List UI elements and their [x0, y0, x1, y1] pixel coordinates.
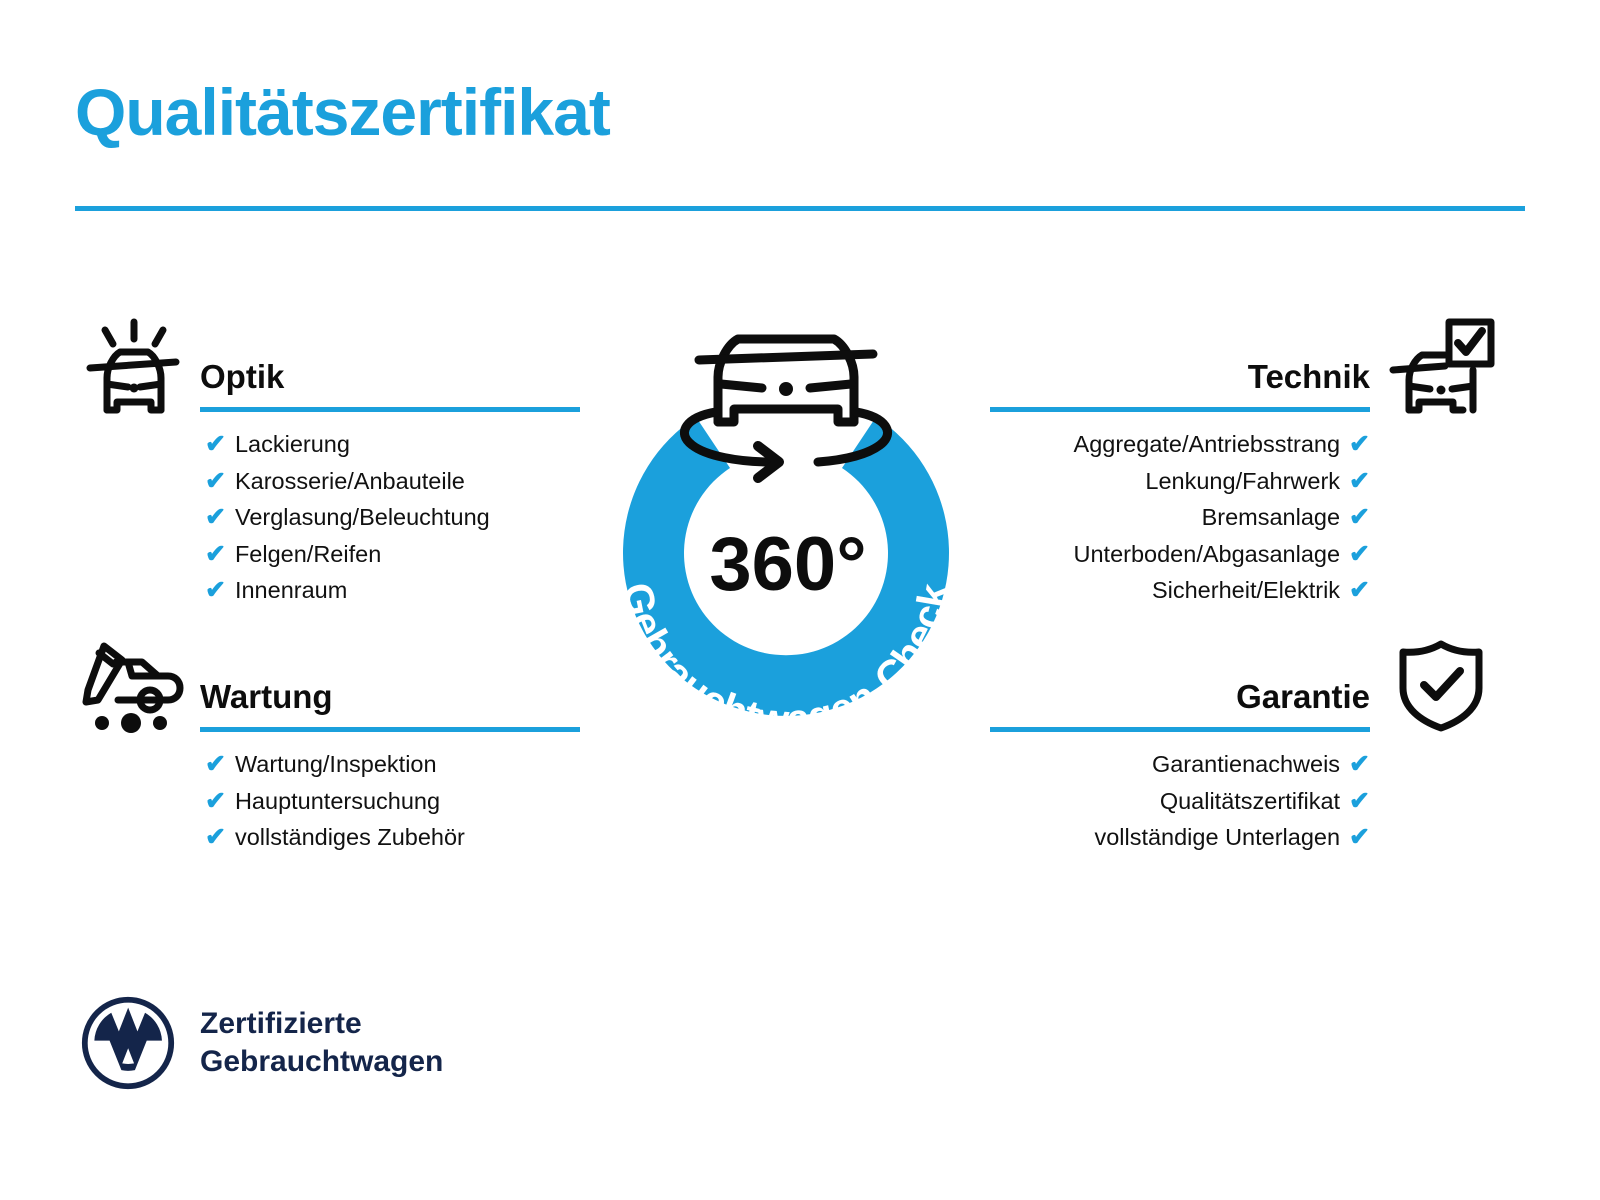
section-garantie-header: Garantie [995, 638, 1500, 746]
header-divider [75, 206, 1525, 211]
check-icon: ✔ [205, 540, 226, 568]
car-shine-icon [75, 318, 193, 418]
list-item-label: Lenkung/Fahrwerk [1145, 468, 1340, 494]
volkswagen-logo [80, 995, 176, 1091]
section-optik-divider [200, 407, 580, 412]
list-item-label: Innenraum [235, 577, 347, 603]
car-pencil-service-icon [75, 638, 193, 738]
list-item-label: Unterboden/Abgasanlage [1074, 541, 1341, 567]
section-optik-title: Optik [200, 358, 284, 396]
car-checkbox-icon [1382, 318, 1500, 418]
list-item: ✔Wartung/Inspektion [205, 746, 580, 783]
section-technik: Technik Aggregate/Antriebsstrang✔ Lenkun… [995, 318, 1500, 609]
section-wartung: Wartung ✔Wartung/Inspektion ✔Hauptunters… [75, 638, 580, 856]
section-garantie-list: Garantienachweis✔ Qualitätszertifikat✔ v… [995, 746, 1370, 856]
list-item: ✔Lackierung [205, 426, 580, 463]
list-item-label: Karosserie/Anbauteile [235, 468, 465, 494]
section-wartung-list: ✔Wartung/Inspektion ✔Hauptuntersuchung ✔… [205, 746, 580, 856]
list-item: ✔vollständiges Zubehör [205, 819, 580, 856]
badge-center-value: 360° [709, 522, 866, 607]
list-item: Bremsanlage✔ [995, 499, 1370, 536]
list-item-label: Wartung/Inspektion [235, 751, 437, 777]
check-icon: ✔ [1349, 430, 1370, 458]
section-optik: Optik ✔Lackierung ✔Karosserie/Anbauteile… [75, 318, 580, 609]
section-garantie-divider [990, 727, 1370, 732]
section-technik-header: Technik [995, 318, 1500, 426]
list-item: Aggregate/Antriebsstrang✔ [995, 426, 1370, 463]
section-wartung-title: Wartung [200, 678, 333, 716]
footer-brand-lockup: Zertifizierte Gebrauchtwagen [80, 995, 443, 1091]
section-technik-list: Aggregate/Antriebsstrang✔ Lenkung/Fahrwe… [995, 426, 1370, 609]
list-item: Sicherheit/Elektrik✔ [995, 572, 1370, 609]
check-icon: ✔ [205, 503, 226, 531]
shield-check-icon [1382, 638, 1500, 738]
car-rotate-icon [684, 339, 887, 478]
check-icon: ✔ [205, 750, 226, 778]
check-icon: ✔ [205, 467, 226, 495]
check-icon: ✔ [205, 576, 226, 604]
list-item: ✔Karosserie/Anbauteile [205, 463, 580, 500]
check-icon: ✔ [1349, 467, 1370, 495]
list-item: ✔Verglasung/Beleuchtung [205, 499, 580, 536]
list-item: ✔Innenraum [205, 572, 580, 609]
list-item: Unterboden/Abgasanlage✔ [995, 536, 1370, 573]
list-item-label: Aggregate/Antriebsstrang [1074, 431, 1341, 457]
list-item-label: Bremsanlage [1202, 504, 1340, 530]
list-item: ✔Felgen/Reifen [205, 536, 580, 573]
list-item-label: Verglasung/Beleuchtung [235, 504, 490, 530]
check-icon: ✔ [1349, 576, 1370, 604]
footer-brand-text: Zertifizierte Gebrauchtwagen [200, 1005, 443, 1082]
list-item-label: Hauptuntersuchung [235, 788, 440, 814]
list-item: Garantienachweis✔ [995, 746, 1370, 783]
check-icon: ✔ [1349, 750, 1370, 778]
list-item-label: vollständiges Zubehör [235, 824, 465, 850]
certificate-page: Qualitätszertifikat Optik [0, 0, 1600, 1200]
check-icon: ✔ [1349, 823, 1370, 851]
footer-brand-line1: Zertifizierte [200, 1005, 443, 1043]
list-item-label: Lackierung [235, 431, 350, 457]
section-wartung-divider [200, 727, 580, 732]
list-item-label: Sicherheit/Elektrik [1152, 577, 1340, 603]
check-icon: ✔ [205, 430, 226, 458]
badge-360-gebrauchtwagen-check: Gebrauchtwagen-Check 360° [566, 305, 1006, 760]
list-item-label: Qualitätszertifikat [1160, 788, 1340, 814]
section-garantie: Garantie Garantienachweis✔ Qualitätszert… [995, 638, 1500, 856]
section-optik-header: Optik [75, 318, 580, 426]
section-technik-title: Technik [1248, 358, 1370, 396]
section-optik-list: ✔Lackierung ✔Karosserie/Anbauteile ✔Verg… [205, 426, 580, 609]
list-item: Qualitätszertifikat✔ [995, 783, 1370, 820]
page-title: Qualitätszertifikat [75, 78, 610, 147]
list-item: ✔Hauptuntersuchung [205, 783, 580, 820]
check-icon: ✔ [205, 787, 226, 815]
check-icon: ✔ [1349, 503, 1370, 531]
list-item: vollständige Unterlagen✔ [995, 819, 1370, 856]
check-icon: ✔ [205, 823, 226, 851]
section-technik-divider [990, 407, 1370, 412]
list-item-label: vollständige Unterlagen [1094, 824, 1340, 850]
list-item-label: Garantienachweis [1152, 751, 1340, 777]
footer-brand-line2: Gebrauchtwagen [200, 1043, 443, 1081]
check-icon: ✔ [1349, 787, 1370, 815]
list-item-label: Felgen/Reifen [235, 541, 381, 567]
section-wartung-header: Wartung [75, 638, 580, 746]
check-icon: ✔ [1349, 540, 1370, 568]
list-item: Lenkung/Fahrwerk✔ [995, 463, 1370, 500]
section-garantie-title: Garantie [1236, 678, 1370, 716]
